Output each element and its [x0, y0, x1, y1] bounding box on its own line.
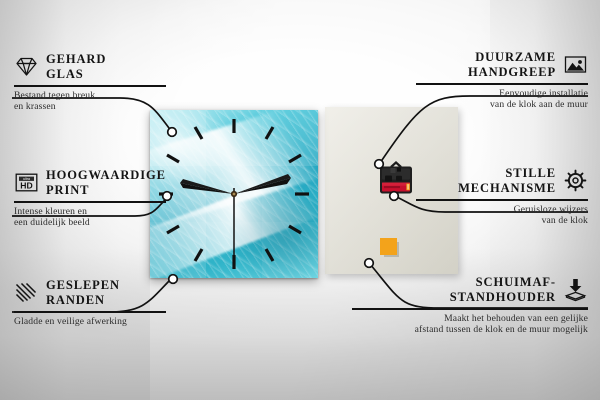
feature-header: GESLEPEN RANDEN: [14, 278, 166, 307]
feature-geslepen-randen[interactable]: GESLEPEN RANDEN Gladde en veilige afwerk…: [14, 278, 166, 327]
feature-subtitle: Maakt het behouden van een gelijke afsta…: [352, 313, 588, 336]
feature-gehard-glas[interactable]: GEHARD GLAS Bestand tegen breuk en krass…: [14, 52, 166, 112]
wire-node-duurzame-handgreep: [375, 160, 384, 169]
gear-icon: [563, 168, 588, 193]
feature-stille-mechanisme[interactable]: STILLE MECHANISME: [416, 166, 588, 226]
beveled-edges-icon: [14, 280, 39, 305]
feature-subtitle: Geruisloze wijzers van de klok: [416, 204, 588, 227]
feature-divider: [416, 83, 588, 85]
feature-header: ultra HD HOOGWAARDIGE PRINT: [14, 168, 166, 197]
feature-title: HOOGWAARDIGE PRINT: [46, 168, 166, 197]
feature-divider: [14, 201, 166, 203]
feature-divider: [352, 308, 588, 310]
ultra-hd-icon: ultra HD: [14, 170, 39, 195]
feature-subtitle: Bestand tegen breuk en krassen: [14, 90, 166, 113]
feature-header: STILLE MECHANISME: [416, 166, 588, 195]
feature-subtitle: Eenvoudige installatie van de klok aan d…: [416, 88, 588, 111]
feature-hoogwaardige-print[interactable]: ultra HD HOOGWAARDIGE PRINT Intense kleu…: [14, 168, 166, 228]
feature-subtitle: Intense kleuren en een duidelijk beeld: [14, 206, 166, 229]
feature-title: GEHARD GLAS: [46, 52, 106, 81]
feature-divider: [416, 199, 588, 201]
feature-divider: [14, 311, 166, 313]
feature-header: DUURZAME HANDGREEP: [416, 50, 588, 79]
feature-title: DUURZAME HANDGREEP: [468, 50, 556, 79]
feature-header: GEHARD GLAS: [14, 52, 166, 81]
wire-node-stille-mechanisme: [390, 192, 399, 201]
product-infographic: GEHARD GLAS Bestand tegen breuk en krass…: [0, 0, 600, 400]
press-pad-icon: [563, 277, 588, 302]
feature-title: STILLE MECHANISME: [458, 166, 556, 195]
feature-header: SCHUIMAF- STANDHOUDER: [352, 275, 588, 304]
wire-node-geslepen-randen: [169, 275, 178, 284]
feature-title: GESLEPEN RANDEN: [46, 278, 120, 307]
svg-text:HD: HD: [20, 181, 32, 191]
wire-node-gehard-glas: [168, 128, 177, 137]
feature-subtitle: Gladde en veilige afwerking: [14, 316, 166, 327]
diamond-icon: [14, 54, 39, 79]
feature-duurzame-handgreep[interactable]: DUURZAME HANDGREEP Eenvoudige installati…: [416, 50, 588, 110]
feature-title: SCHUIMAF- STANDHOUDER: [450, 275, 556, 304]
feature-schuimafstandhouder[interactable]: SCHUIMAF- STANDHOUDER Maakt het behouden…: [352, 275, 588, 335]
picture-frame-icon: [563, 52, 588, 77]
wire-node-schuimafstandhouder: [365, 259, 374, 268]
feature-divider: [14, 85, 166, 87]
